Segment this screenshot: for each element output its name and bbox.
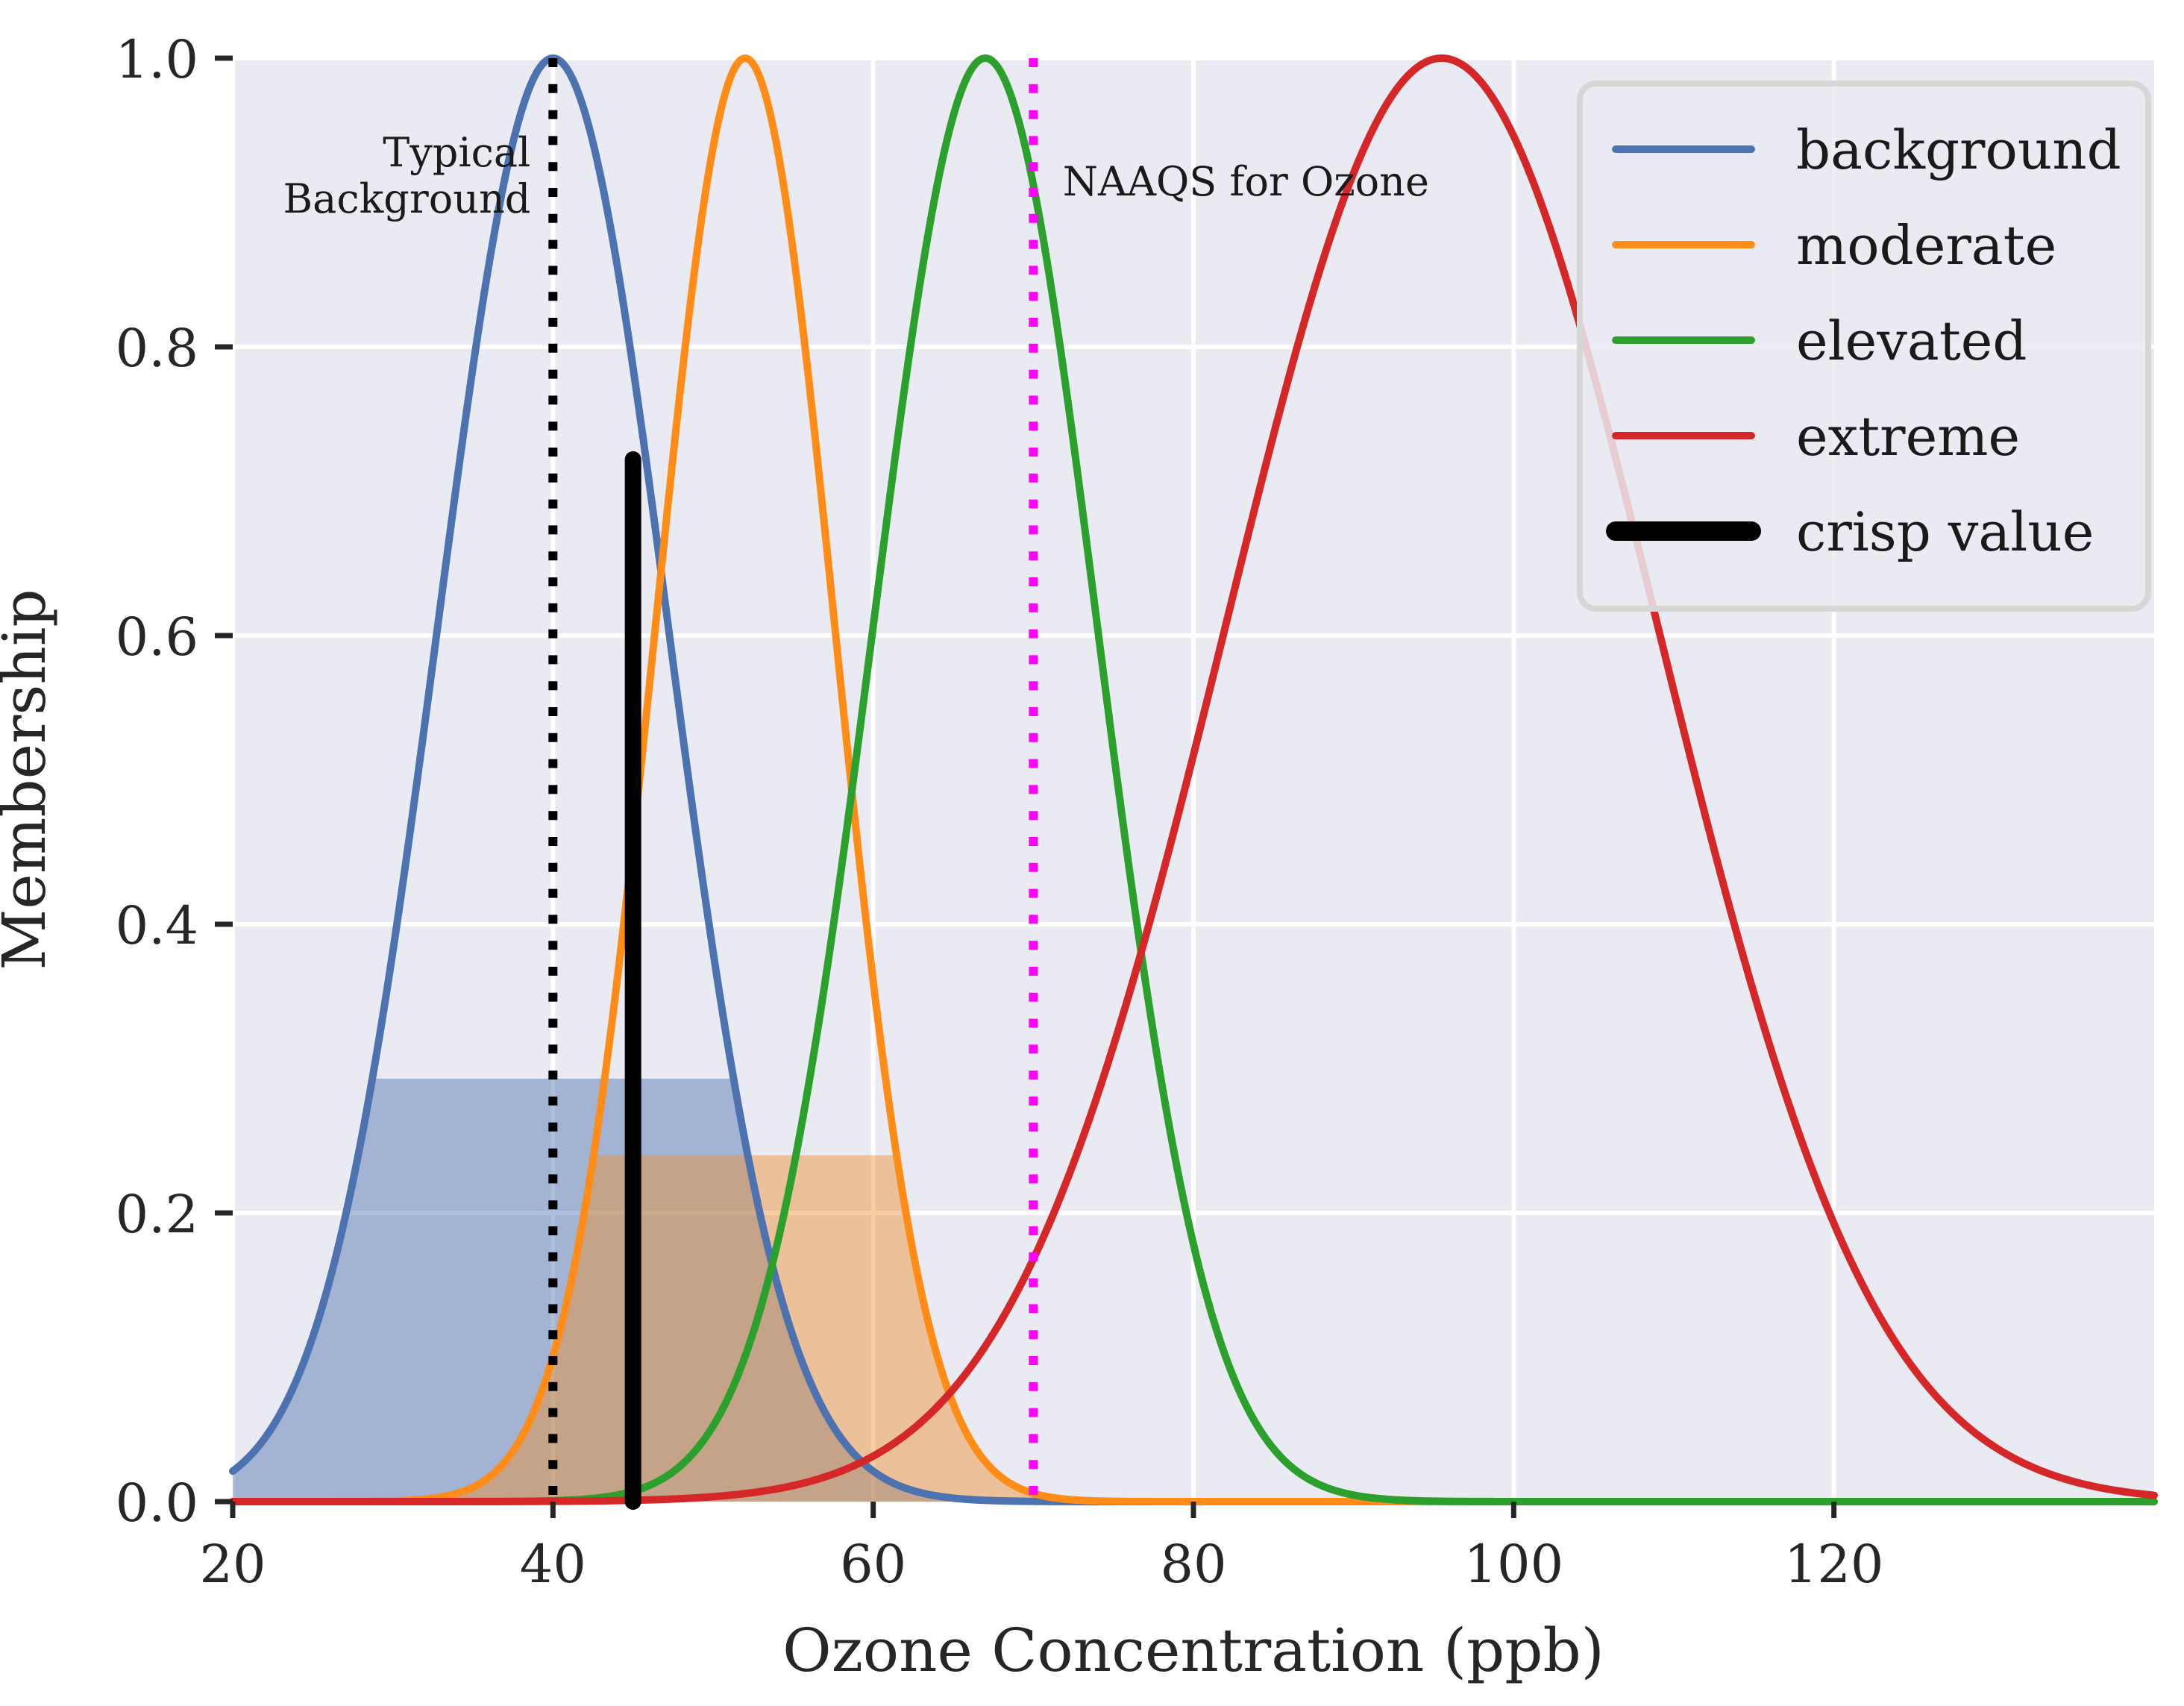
y-tick-label: 0.0: [116, 1473, 198, 1534]
y-tick-label: 0.4: [116, 895, 198, 956]
y-tick-label: 0.2: [116, 1184, 198, 1245]
x-tick-label: 100: [1464, 1534, 1564, 1595]
figure-container: TypicalBackgroundNAAQS for Ozone 2040608…: [0, 0, 2184, 1706]
legend-label-background: background: [1796, 119, 2121, 181]
chart-legend: backgroundmoderateelevatedextremecrisp v…: [1580, 84, 2148, 609]
y-tick-label: 1.0: [116, 29, 198, 90]
annotation-line: Background: [283, 175, 530, 222]
annotation-line: NAAQS for Ozone: [1063, 158, 1429, 205]
x-tick-label: 40: [520, 1534, 586, 1595]
legend-label-elevated: elevated: [1796, 310, 2027, 372]
legend-label-moderate: moderate: [1796, 214, 2056, 277]
x-tick-label: 20: [199, 1534, 266, 1595]
annotation-line: Typical: [383, 129, 530, 176]
x-axis-ticks: 20406080100120: [199, 1502, 1883, 1595]
legend-label-crisp-value: crisp value: [1796, 501, 2094, 563]
y-tick-label: 0.6: [116, 606, 198, 668]
x-axis-title: Ozone Concentration (ppb): [782, 1616, 1604, 1685]
x-tick-label: 60: [840, 1534, 906, 1595]
y-axis-title: Membership: [0, 589, 59, 970]
y-tick-label: 0.8: [116, 318, 198, 379]
chart-svg: TypicalBackgroundNAAQS for Ozone 2040608…: [0, 0, 2184, 1706]
x-tick-label: 120: [1784, 1534, 1884, 1595]
x-tick-label: 80: [1160, 1534, 1226, 1595]
legend-label-extreme: extreme: [1796, 405, 2020, 468]
annotation-1: NAAQS for Ozone: [1063, 158, 1429, 205]
y-axis-ticks: 0.00.20.40.60.81.0: [116, 29, 233, 1534]
